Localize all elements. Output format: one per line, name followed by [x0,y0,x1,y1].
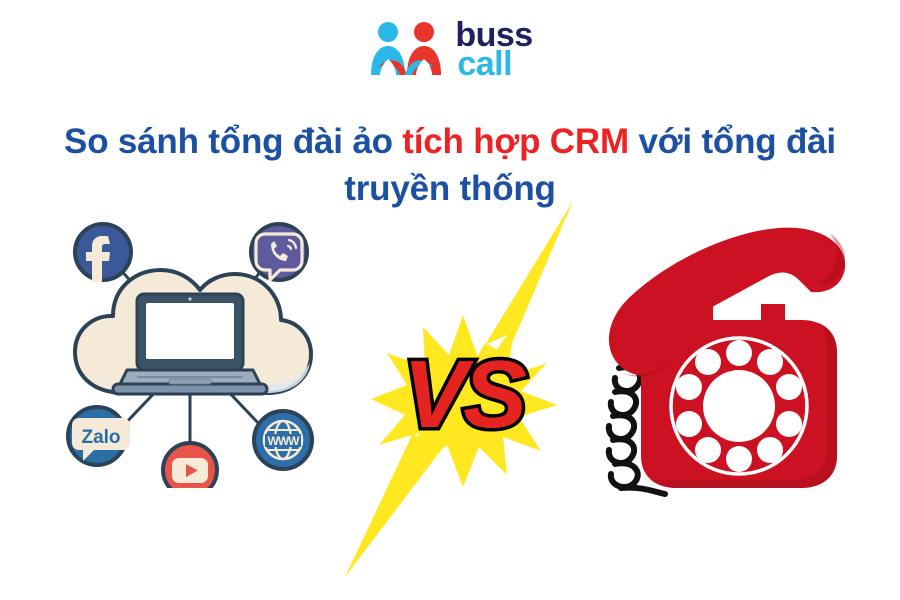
illustration-stage: Zalo WWW [0,200,900,600]
logo-wordmark-secondary: call [457,50,532,79]
zalo-label: Zalo [81,427,120,448]
youtube-icon[interactable] [163,443,217,488]
buss-call-people-logo-icon [367,21,445,79]
www-label: WWW [268,434,301,448]
title-segment-before: So sánh tổng đài ảo [64,122,402,161]
facebook-icon[interactable] [75,224,131,282]
laptop-icon [113,294,267,394]
zalo-icon[interactable]: Zalo [68,407,130,465]
brand-logo: buss call [0,14,900,86]
vs-text: VS [403,341,527,448]
viber-icon[interactable] [251,224,307,280]
title-segment-after: với tổng [629,122,777,161]
title-segment-accent: tích hợp CRM [402,122,629,161]
svg-text:VS: VS [403,341,527,448]
traditional-rotary-telephone [585,220,870,520]
versus-lightning-badge: VS [335,195,590,585]
www-globe-icon[interactable]: WWW [254,411,312,469]
cloud-pbx-illustration: Zalo WWW [55,208,325,488]
